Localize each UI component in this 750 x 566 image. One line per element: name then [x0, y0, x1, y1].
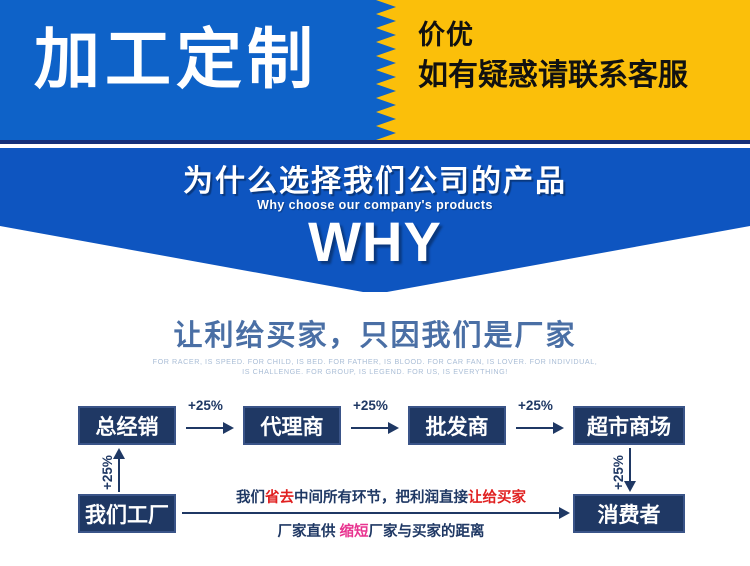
direct-msg2-highlight-shorten: 缩短 [340, 524, 369, 540]
arrow-head [553, 422, 564, 434]
flow-node-consumer: 消费者 [573, 494, 685, 533]
flow-node-supermarket-label: 超市商场 [587, 411, 671, 441]
direct-msg-part1: 我们 [236, 490, 265, 506]
flow-node-consumer-label: 消费者 [598, 499, 661, 529]
markup-label-step1: +25% [188, 398, 223, 413]
header-title: 加工定制 [34, 26, 318, 92]
arrow-shaft [186, 427, 223, 429]
markup-label-step2: +25% [353, 398, 388, 413]
supply-chain-flowchart: 总经销 代理商 批发商 超市商场 我们工厂 消费者 +25% +25% +25%… [0, 390, 750, 566]
direct-supply-message-line1: 我们省去中间所有环节，把利润直接让给买家 [196, 486, 566, 507]
direct-msg-part2: 中间所有环节，把利润直接 [294, 490, 468, 506]
arrow-right-icon-factory-to-consumer [182, 506, 570, 520]
flow-node-our-factory: 我们工厂 [78, 494, 176, 533]
arrow-shaft [182, 512, 559, 514]
header-banner: 加工定制 价优 如有疑惑请联系客服 [0, 0, 750, 140]
banner-headline-cn: 为什么选择我们公司的产品 [0, 156, 750, 200]
direct-msg-highlight-save: 省去 [265, 490, 294, 506]
header-right-text: 价优 如有疑惑请联系客服 [418, 20, 748, 94]
banner-big-word: WHY [0, 214, 750, 270]
flow-node-agent-label: 代理商 [261, 411, 324, 441]
flow-node-wholesaler: 批发商 [408, 406, 506, 445]
header-price-advantage-label: 价优 [418, 20, 748, 51]
markup-label-step3: +25% [518, 398, 553, 413]
tagline-sub-line-2: IS CHALLENGE. FOR GROUP, IS LEGEND. FOR … [0, 367, 750, 377]
direct-msg2-part1: 厂家直供 [277, 524, 339, 540]
markup-label-factory-to-distributor: +25% [100, 455, 115, 490]
arrow-shaft [351, 427, 388, 429]
arrow-shaft [516, 427, 553, 429]
markup-label-supermarket-to-consumer: +25% [611, 455, 626, 490]
why-chevron-banner: 为什么选择我们公司的产品 Why choose our company's pr… [0, 148, 750, 292]
header-contact-service-label: 如有疑惑请联系客服 [418, 59, 748, 94]
arrow-shaft [118, 459, 120, 492]
arrow-head [388, 422, 399, 434]
arrow-right-icon-step2 [351, 421, 399, 435]
tagline-block: 让利给买家，只因我们是厂家 FOR RACER, IS SPEED. FOR C… [0, 312, 750, 378]
flow-node-wholesaler-label: 批发商 [426, 411, 489, 441]
flow-node-our-factory-label: 我们工厂 [85, 499, 169, 529]
arrow-head [559, 507, 570, 519]
direct-msg-highlight-to-buyer: 让给买家 [468, 490, 526, 506]
arrow-shaft [629, 448, 631, 481]
flow-node-general-distributor: 总经销 [78, 406, 176, 445]
direct-msg2-part2: 厂家与买家的距离 [369, 524, 485, 540]
arrow-right-icon-step3 [516, 421, 564, 435]
flow-node-general-distributor-label: 总经销 [96, 411, 159, 441]
tagline-sub-line-1: FOR RACER, IS SPEED. FOR CHILD, IS BED. … [0, 357, 750, 367]
arrow-right-icon-step1 [186, 421, 234, 435]
direct-supply-message-line2: 厂家直供 缩短厂家与买家的距离 [196, 520, 566, 541]
header-divider-rule [0, 140, 750, 144]
flow-node-agent: 代理商 [243, 406, 341, 445]
tagline-main-text: 让利给买家，只因我们是厂家 [0, 312, 750, 354]
arrow-head [223, 422, 234, 434]
flow-node-supermarket: 超市商场 [573, 406, 685, 445]
